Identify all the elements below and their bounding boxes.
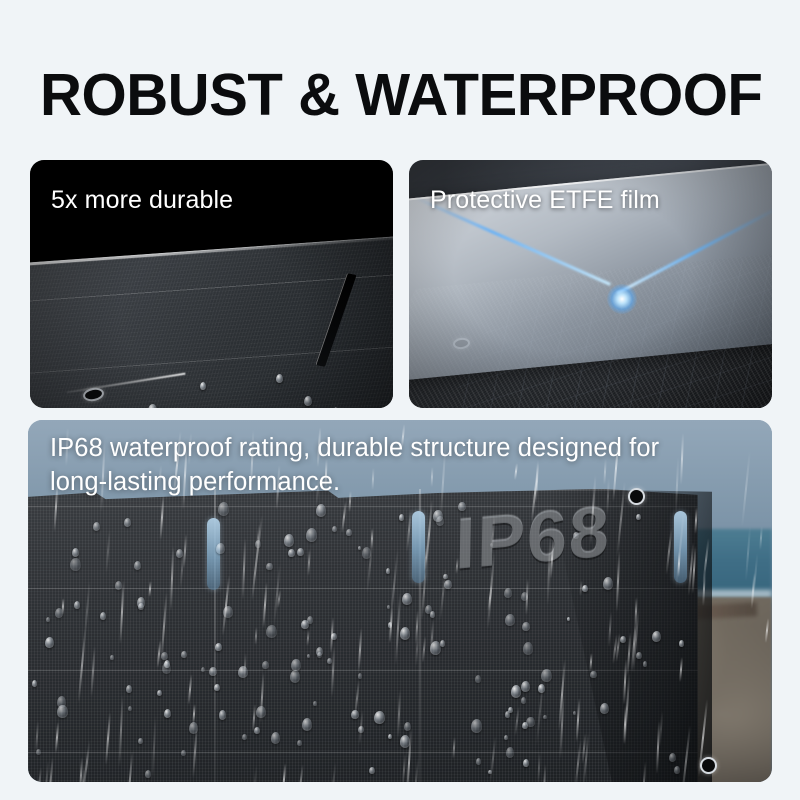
- banner-caption-line-2: long-lasting performance.: [50, 466, 750, 500]
- water-droplet: [652, 631, 661, 642]
- water-droplet: [582, 585, 588, 592]
- water-droplet: [620, 636, 626, 643]
- water-droplet: [505, 614, 515, 626]
- water-droplet: [181, 651, 187, 658]
- panel-handle-slot: [674, 511, 687, 583]
- feature-card-durable[interactable]: 5x more durable: [30, 160, 393, 408]
- water-droplet: [72, 548, 79, 557]
- water-droplet: [674, 766, 680, 773]
- water-droplet: [45, 637, 54, 649]
- water-droplet: [362, 547, 371, 559]
- water-droplet: [216, 543, 225, 554]
- water-droplet: [124, 518, 131, 527]
- water-droplet: [358, 726, 364, 733]
- water-droplet: [444, 580, 451, 589]
- water-droplet: [433, 510, 443, 522]
- water-droplet: [679, 640, 685, 647]
- banner-caption: IP68 waterproof rating, durable structur…: [50, 432, 750, 499]
- water-droplet: [302, 718, 312, 731]
- water-droplet: [430, 611, 436, 618]
- water-droplet: [242, 734, 247, 740]
- water-droplet: [506, 747, 514, 757]
- water-droplet: [669, 753, 676, 762]
- water-droplet: [223, 606, 233, 618]
- panel-handle-slot: [412, 511, 425, 583]
- water-droplet: [523, 759, 529, 767]
- water-droplet: [100, 612, 106, 620]
- water-droplet: [388, 622, 393, 628]
- feature-card-etfe-label: Protective ETFE film: [430, 186, 660, 215]
- banner-caption-line-1: IP68 waterproof rating, durable structur…: [50, 432, 750, 466]
- water-droplet: [522, 622, 529, 631]
- water-droplet: [266, 563, 272, 571]
- water-droplet: [590, 671, 596, 679]
- water-droplet: [189, 722, 198, 734]
- water-droplet: [358, 673, 362, 678]
- water-droplet: [332, 526, 337, 532]
- water-droplet: [256, 706, 266, 718]
- water-droplet: [488, 770, 491, 774]
- water-droplet: [157, 690, 162, 697]
- feature-card-etfe[interactable]: Protective ETFE film: [409, 160, 772, 408]
- water-droplet: [215, 643, 222, 651]
- water-droplet: [603, 577, 613, 590]
- water-droplet: [271, 732, 280, 743]
- water-droplet: [297, 740, 302, 746]
- water-droplet: [521, 592, 528, 601]
- water-droplet: [313, 701, 317, 706]
- water-droplet: [400, 735, 410, 747]
- water-droplet: [471, 719, 482, 733]
- panel-grommet-icon: [700, 757, 717, 774]
- water-droplet: [543, 715, 547, 720]
- water-droplet: [266, 625, 277, 638]
- feature-card-row: 5x more durable Protective ETFE film: [30, 160, 772, 408]
- water-droplet: [209, 667, 217, 677]
- panel-handle-slot: [207, 518, 220, 590]
- water-droplet: [523, 642, 533, 655]
- water-droplet: [387, 605, 390, 609]
- water-droplet: [636, 652, 642, 659]
- water-droplet: [386, 568, 390, 573]
- water-droplet: [164, 660, 170, 668]
- water-droplet: [297, 548, 304, 556]
- water-droplet: [290, 670, 300, 683]
- water-droplet: [284, 534, 294, 546]
- page-title: ROBUST & WATERPROOF: [40, 66, 769, 125]
- water-droplet: [351, 710, 358, 719]
- water-droplet: [57, 705, 67, 718]
- water-droplet: [128, 706, 132, 711]
- water-droplet: [218, 502, 229, 516]
- water-droplet: [74, 601, 80, 609]
- water-droplet: [443, 574, 447, 579]
- water-droplet: [369, 767, 375, 775]
- water-droplet: [291, 659, 300, 671]
- water-droplet: [504, 735, 508, 740]
- water-droplet: [176, 549, 183, 558]
- water-droplet: [402, 593, 412, 605]
- water-droplet: [346, 529, 351, 536]
- water-droplet: [301, 620, 309, 630]
- water-droplet: [399, 514, 404, 520]
- water-droplet: [181, 750, 186, 756]
- water-droplet: [138, 738, 143, 744]
- water-droplet: [70, 558, 80, 571]
- water-droplet: [567, 617, 570, 621]
- water-droplet: [404, 722, 411, 731]
- water-droplet: [164, 709, 171, 718]
- feature-card-durable-label: 5x more durable: [51, 186, 233, 215]
- water-droplet: [288, 549, 295, 558]
- water-droplet: [538, 684, 545, 693]
- water-droplet: [636, 514, 641, 520]
- water-droplet: [521, 697, 526, 704]
- water-droplet: [504, 588, 512, 598]
- water-droplet: [219, 710, 226, 719]
- water-droplet: [110, 655, 113, 659]
- water-droplet: [521, 681, 530, 692]
- water-droplet: [573, 532, 579, 539]
- water-droplet: [331, 633, 337, 640]
- water-droplet: [36, 749, 41, 755]
- water-droplet: [32, 680, 37, 687]
- water-droplet: [327, 658, 332, 664]
- water-droplet: [115, 581, 122, 590]
- water-droplet: [476, 758, 481, 765]
- water-droplet: [306, 528, 317, 541]
- water-droplet: [541, 669, 552, 683]
- water-droplet: [374, 711, 384, 724]
